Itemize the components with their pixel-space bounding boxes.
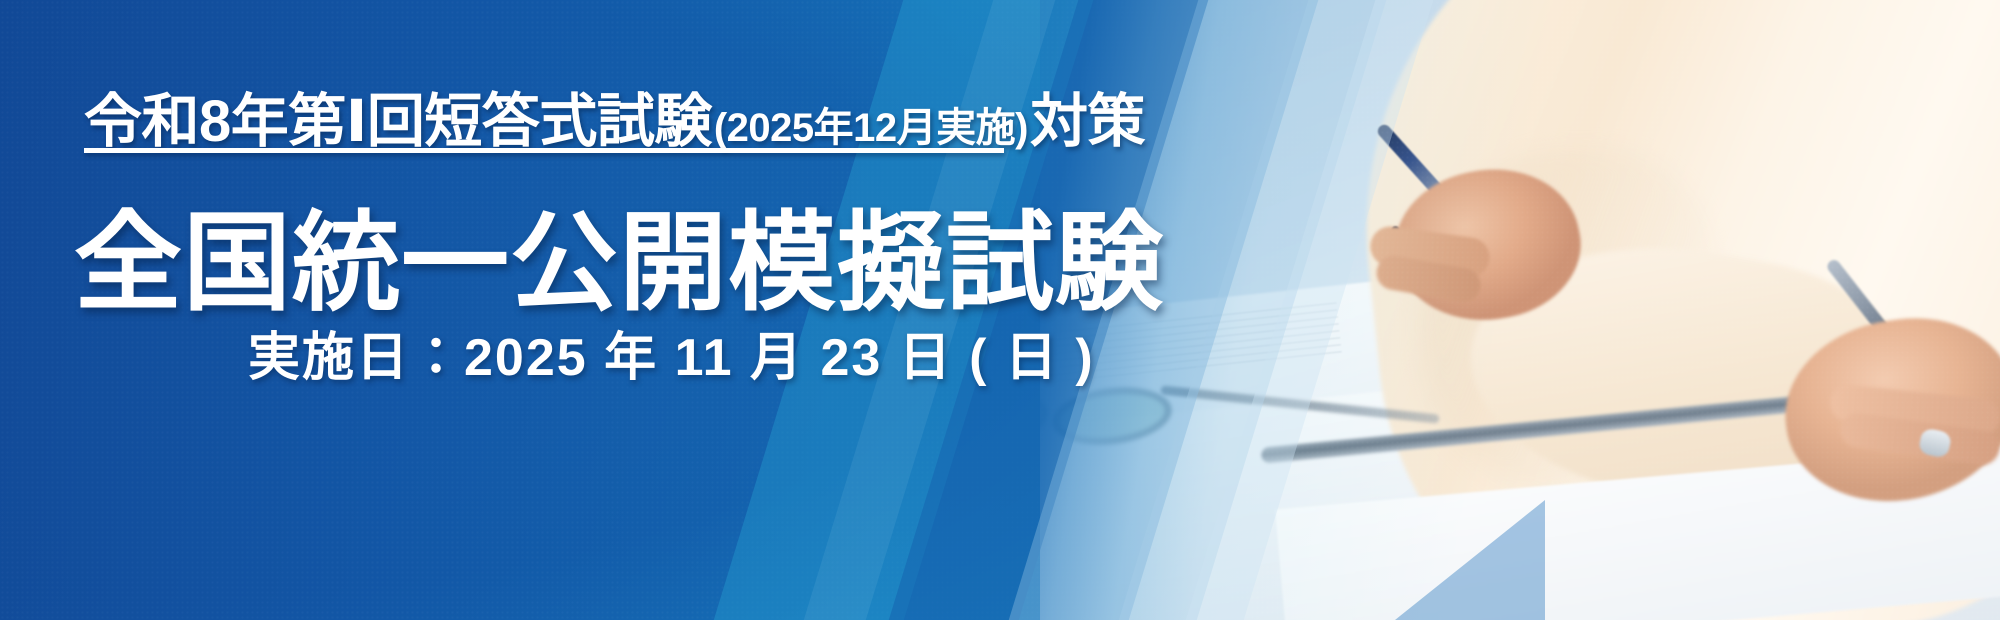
banner-text-block: 令和8年第Ⅰ回短答式試験 (2025年12月実施) 対策 全国統一公開模擬試験 … bbox=[0, 0, 1060, 620]
exam-prep-suffix: 対策 bbox=[1030, 74, 1145, 158]
exam-subtitle-line: 令和8年第Ⅰ回短答式試験 (2025年12月実施) 対策 bbox=[84, 74, 1145, 158]
exam-date-line: 実施日：2025 年 11 月 23 日 ( 日 ) bbox=[248, 315, 1095, 390]
title-divider-rule bbox=[84, 148, 1004, 153]
exam-name-text: 令和8年第Ⅰ回短答式試験 bbox=[84, 74, 712, 158]
exam-promo-banner: 令和8年第Ⅰ回短答式試験 (2025年12月実施) 対策 全国統一公開模擬試験 … bbox=[0, 0, 2000, 620]
banner-title: 全国統一公開模擬試験 bbox=[74, 176, 1164, 332]
exam-date-parenthetical: (2025年12月実施) bbox=[714, 95, 1028, 153]
